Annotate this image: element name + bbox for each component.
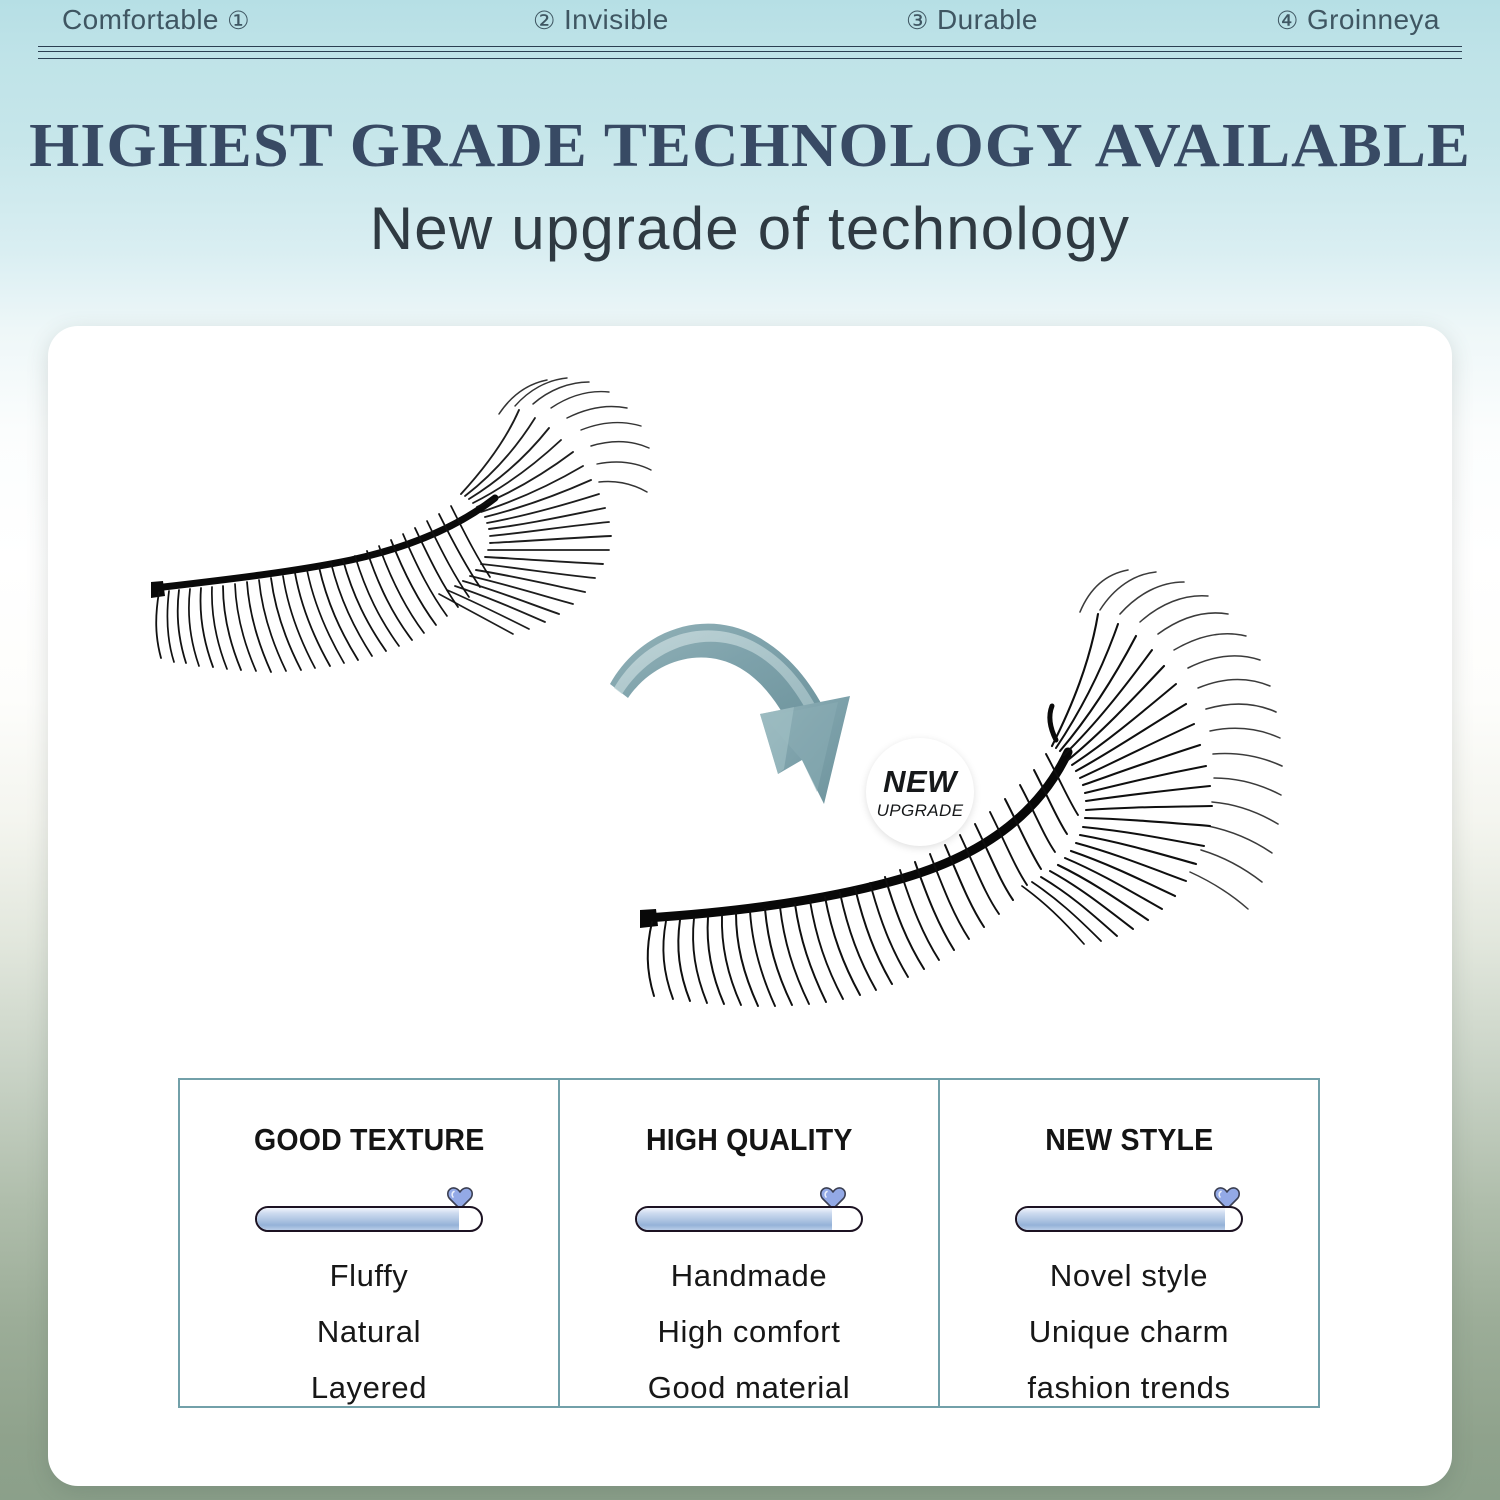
nav-item-durable[interactable]: ③ Durable xyxy=(906,4,1038,36)
nav-item-invisible[interactable]: ② Invisible xyxy=(533,4,669,36)
feature-list-item: Fluffy xyxy=(330,1258,409,1294)
nav-item-label: Invisible xyxy=(564,4,669,35)
new-upgrade-badge: NEW UPGRADE xyxy=(866,738,974,846)
feature-column-high-quality: HIGH QUALITY Handmade High comfort Good … xyxy=(558,1080,938,1406)
feature-list-item: Unique charm xyxy=(1029,1314,1229,1350)
divider-line xyxy=(38,58,1462,59)
feature-title: GOOD TEXTURE xyxy=(254,1122,484,1158)
badge-new-label: NEW xyxy=(883,766,957,797)
nav-item-number-icon: ① xyxy=(227,7,250,35)
rating-bar-new-style xyxy=(1015,1186,1243,1232)
product-card: NEW UPGRADE GOOD TEXTURE Fluffy xyxy=(48,326,1452,1486)
nav-item-label: Durable xyxy=(937,4,1038,35)
feature-title: HIGH QUALITY xyxy=(646,1122,853,1158)
feature-list: Novel style Unique charm fashion trends xyxy=(1027,1258,1230,1406)
feature-table: GOOD TEXTURE Fluffy Natural Layered xyxy=(178,1078,1320,1408)
feature-list-item: High comfort xyxy=(658,1314,841,1350)
header-divider xyxy=(38,46,1462,60)
feature-list-item: fashion trends xyxy=(1027,1370,1230,1406)
infographic-page: Comfortable ① ② Invisible ③ Durable ④ Gr… xyxy=(0,0,1500,1500)
rating-bar-fill xyxy=(1017,1208,1225,1230)
rating-bar-high-quality xyxy=(635,1186,863,1232)
feature-list-item: Natural xyxy=(317,1314,421,1350)
feature-list-item: Layered xyxy=(311,1370,427,1406)
rating-bar-fill xyxy=(257,1208,459,1230)
rating-bar-good-texture xyxy=(255,1186,483,1232)
headline-block: HIGHEST GRADE TECHNOLOGY AVAILABLE New u… xyxy=(0,112,1500,263)
feature-list: Fluffy Natural Layered xyxy=(311,1258,427,1406)
feature-list-item: Good material xyxy=(648,1370,851,1406)
page-title: HIGHEST GRADE TECHNOLOGY AVAILABLE xyxy=(0,112,1500,180)
nav-item-groinneya[interactable]: ④ Groinneya xyxy=(1276,4,1440,36)
feature-list-item: Handmade xyxy=(671,1258,827,1294)
top-nav-bar: Comfortable ① ② Invisible ③ Durable ④ Gr… xyxy=(0,0,1500,50)
nav-item-number-icon: ② xyxy=(533,7,556,35)
nav-item-comfortable[interactable]: Comfortable ① xyxy=(62,4,250,36)
feature-title: NEW STYLE xyxy=(1045,1122,1213,1158)
rating-bar-fill xyxy=(637,1208,832,1230)
nav-item-label: Groinneya xyxy=(1307,4,1440,35)
nav-item-number-icon: ③ xyxy=(906,7,929,35)
badge-upgrade-label: UPGRADE xyxy=(877,802,964,819)
nav-item-label: Comfortable xyxy=(62,4,219,35)
divider-line xyxy=(38,51,1462,52)
divider-line xyxy=(38,46,1462,47)
feature-list: Handmade High comfort Good material xyxy=(648,1258,851,1406)
eyelash-before-image xyxy=(143,366,663,696)
rating-bar-track xyxy=(1015,1206,1243,1232)
feature-column-new-style: NEW STYLE Novel style Unique charm fashi… xyxy=(938,1080,1318,1406)
page-subtitle: New upgrade of technology xyxy=(0,194,1500,263)
nav-item-number-icon: ④ xyxy=(1276,7,1299,35)
rating-bar-track xyxy=(255,1206,483,1232)
feature-list-item: Novel style xyxy=(1050,1258,1208,1294)
rating-bar-track xyxy=(635,1206,863,1232)
feature-column-good-texture: GOOD TEXTURE Fluffy Natural Layered xyxy=(180,1080,558,1406)
